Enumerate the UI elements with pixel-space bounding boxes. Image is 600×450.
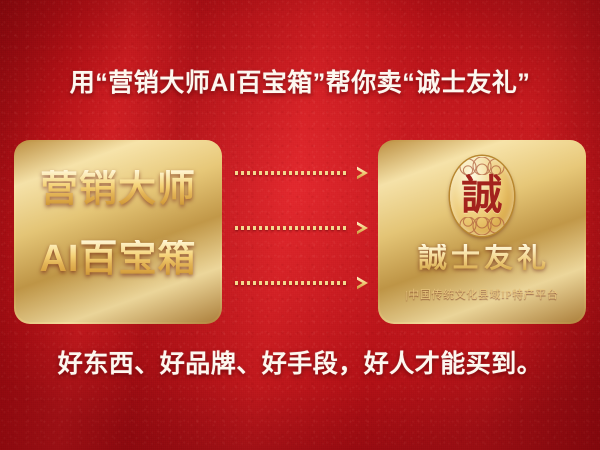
- arrow-dotted-line: [235, 226, 347, 230]
- connector-arrows: [232, 140, 372, 324]
- arrow-head-icon: [355, 221, 370, 235]
- content-band: 营销大师 AI百宝箱: [0, 140, 600, 330]
- dotted-arrow-right-icon: [232, 221, 370, 235]
- promo-poster: 用“营销大师AI百宝箱”帮你卖“诚士友礼” 营销大师 AI百宝箱: [0, 0, 600, 450]
- brand-tagline-text: |中国传统文化县域IP特产平台: [380, 290, 584, 301]
- dotted-arrow-right-icon: [232, 166, 370, 180]
- oval-seal-icon: 誠: [450, 156, 514, 236]
- headline-text: 用“营销大师AI百宝箱”帮你卖“诚士友礼”: [0, 70, 600, 98]
- product-panel: 营销大师 AI百宝箱: [14, 140, 222, 324]
- dotted-arrow-right-icon: [232, 276, 370, 290]
- brand-name-text: 誠士友礼: [380, 244, 584, 273]
- product-name-line-2: AI百宝箱: [16, 240, 220, 278]
- product-name-line-1: 营销大师: [16, 170, 220, 208]
- seal-glyph: 誠: [450, 173, 514, 218]
- arrow-head-icon: [355, 166, 370, 180]
- arrow-dotted-line: [235, 281, 347, 285]
- slogan-text: 好东西、好品牌、好手段，好人才能买到。: [0, 351, 600, 379]
- cloud-wave-pattern-bottom: [455, 217, 509, 235]
- arrow-dotted-line: [235, 171, 347, 175]
- arrow-head-icon: [355, 276, 370, 290]
- brand-panel: 誠 誠士友礼 |中国传统文化县域IP特产平台: [378, 140, 586, 324]
